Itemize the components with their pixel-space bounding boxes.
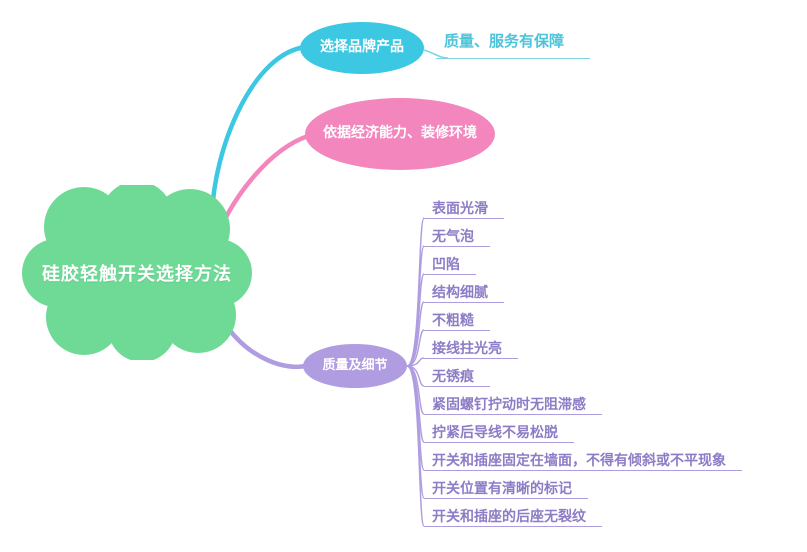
leaf-brand-child[interactable]: 质量、服务有保障	[444, 34, 564, 49]
branch-node-budget-label: 依据经济能力、装修环境	[323, 126, 477, 141]
leaf-quality-item[interactable]: 无锈痕	[432, 370, 474, 384]
leaf-quality-underline	[424, 274, 476, 275]
leaf-quality-item[interactable]: 接线拄光亮	[432, 342, 502, 356]
leaf-quality-item[interactable]: 无气泡	[432, 230, 474, 244]
leaf-quality-item[interactable]: 开关位置有清晰的标记	[432, 482, 572, 496]
leaf-quality-item[interactable]: 开关和插座固定在墙面，不得有倾斜或不平现象	[432, 454, 726, 468]
branch-node-brand[interactable]: 选择品牌产品	[300, 22, 424, 74]
leaf-quality-underline	[424, 218, 504, 219]
leaf-quality-item[interactable]: 凹陷	[432, 258, 460, 272]
edge-brand-to-child	[424, 50, 448, 58]
leaf-quality-item[interactable]: 结构细腻	[432, 286, 488, 300]
branch-node-quality[interactable]: 质量及细节	[303, 344, 407, 388]
leaf-quality-underline	[424, 246, 490, 247]
leaf-quality-item[interactable]: 不粗糙	[432, 314, 474, 328]
leaf-quality-item[interactable]: 紧固螺钉拧动时无阻滞感	[432, 398, 586, 412]
leaf-quality-item[interactable]: 拧紧后导线不易松脱	[432, 426, 558, 440]
leaf-quality-underline	[424, 414, 602, 415]
leaf-quality-underline	[424, 498, 588, 499]
branch-node-brand-label: 选择品牌产品	[320, 40, 404, 55]
leaf-quality-item[interactable]: 开关和插座的后座无裂纹	[432, 510, 586, 524]
leaf-quality-underline	[424, 470, 742, 471]
root-node-label: 硅胶轻触开关选择方法	[22, 185, 252, 360]
branch-node-budget[interactable]: 依据经济能力、装修环境	[305, 98, 495, 170]
leaf-quality-underline	[424, 330, 490, 331]
quality-edge-group	[407, 218, 424, 526]
leaf-quality-underline	[424, 442, 574, 443]
leaf-quality-underline	[424, 386, 490, 387]
leaf-quality-item[interactable]: 表面光滑	[432, 202, 488, 216]
leaf-quality-underline	[424, 358, 518, 359]
root-node[interactable]: 硅胶轻触开关选择方法	[22, 185, 252, 360]
branch-node-quality-label: 质量及细节	[322, 359, 387, 373]
leaf-quality-underline	[424, 302, 504, 303]
leaf-quality-underline	[424, 526, 602, 527]
mindmap-canvas: 硅胶轻触开关选择方法 选择品牌产品 依据经济能力、装修环境 质量及细节 质量、服…	[0, 0, 807, 552]
leaf-brand-child-underline	[436, 58, 590, 59]
